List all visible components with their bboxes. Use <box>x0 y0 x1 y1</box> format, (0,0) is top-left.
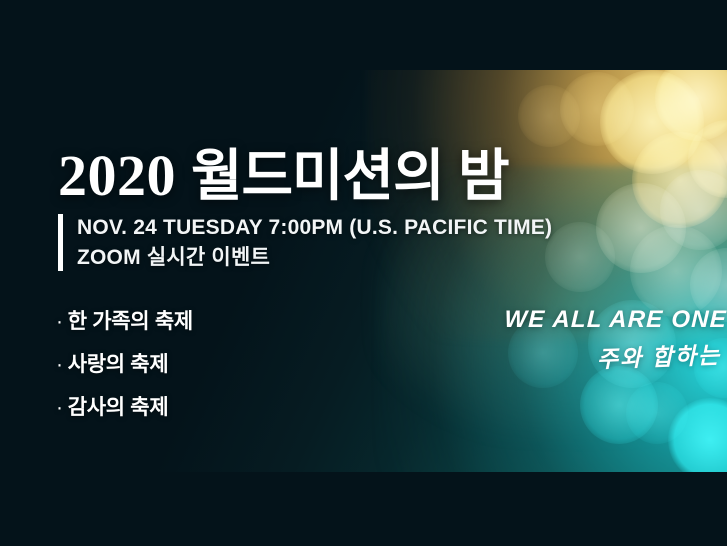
bullet-label: 감사의 축제 <box>68 396 169 419</box>
bullet-marker: · <box>56 396 63 420</box>
bullet-marker: · <box>56 353 63 377</box>
event-details: NOV. 24 TUESDAY 7:00PM (U.S. PACIFIC TIM… <box>58 214 552 271</box>
list-item: ·한 가족의 축제 <box>56 305 193 335</box>
slogan-english: WE ALL ARE ONE <box>487 306 727 334</box>
event-poster: 2020 월드미션의 밤 NOV. 24 TUESDAY 7:00PM (U.S… <box>0 0 727 546</box>
event-datetime: NOV. 24 TUESDAY 7:00PM (U.S. PACIFIC TIM… <box>77 214 552 242</box>
list-item: ·사랑의 축제 <box>56 348 193 378</box>
poster-title: 2020 월드미션의 밤 <box>58 131 509 212</box>
bullet-label: 사랑의 축제 <box>68 353 169 376</box>
event-details-lines: NOV. 24 TUESDAY 7:00PM (U.S. PACIFIC TIM… <box>77 214 552 271</box>
slogan: WE ALL ARE ONE 주와 합하는 <box>487 306 727 374</box>
bullet-marker: · <box>56 310 63 334</box>
accent-rule <box>58 214 63 271</box>
title-korean: 월드미션의 밤 <box>191 144 509 207</box>
title-year: 2020 <box>58 143 176 208</box>
slogan-korean: 주와 합하는 <box>486 336 721 378</box>
poster-content: 2020 월드미션의 밤 NOV. 24 TUESDAY 7:00PM (U.S… <box>0 0 727 546</box>
list-item: ·감사의 축제 <box>56 391 193 421</box>
theme-list: ·한 가족의 축제 ·사랑의 축제 ·감사의 축제 <box>56 305 193 421</box>
event-platform: ZOOM 실시간 이벤트 <box>77 244 552 272</box>
bullet-label: 한 가족의 축제 <box>68 310 193 333</box>
